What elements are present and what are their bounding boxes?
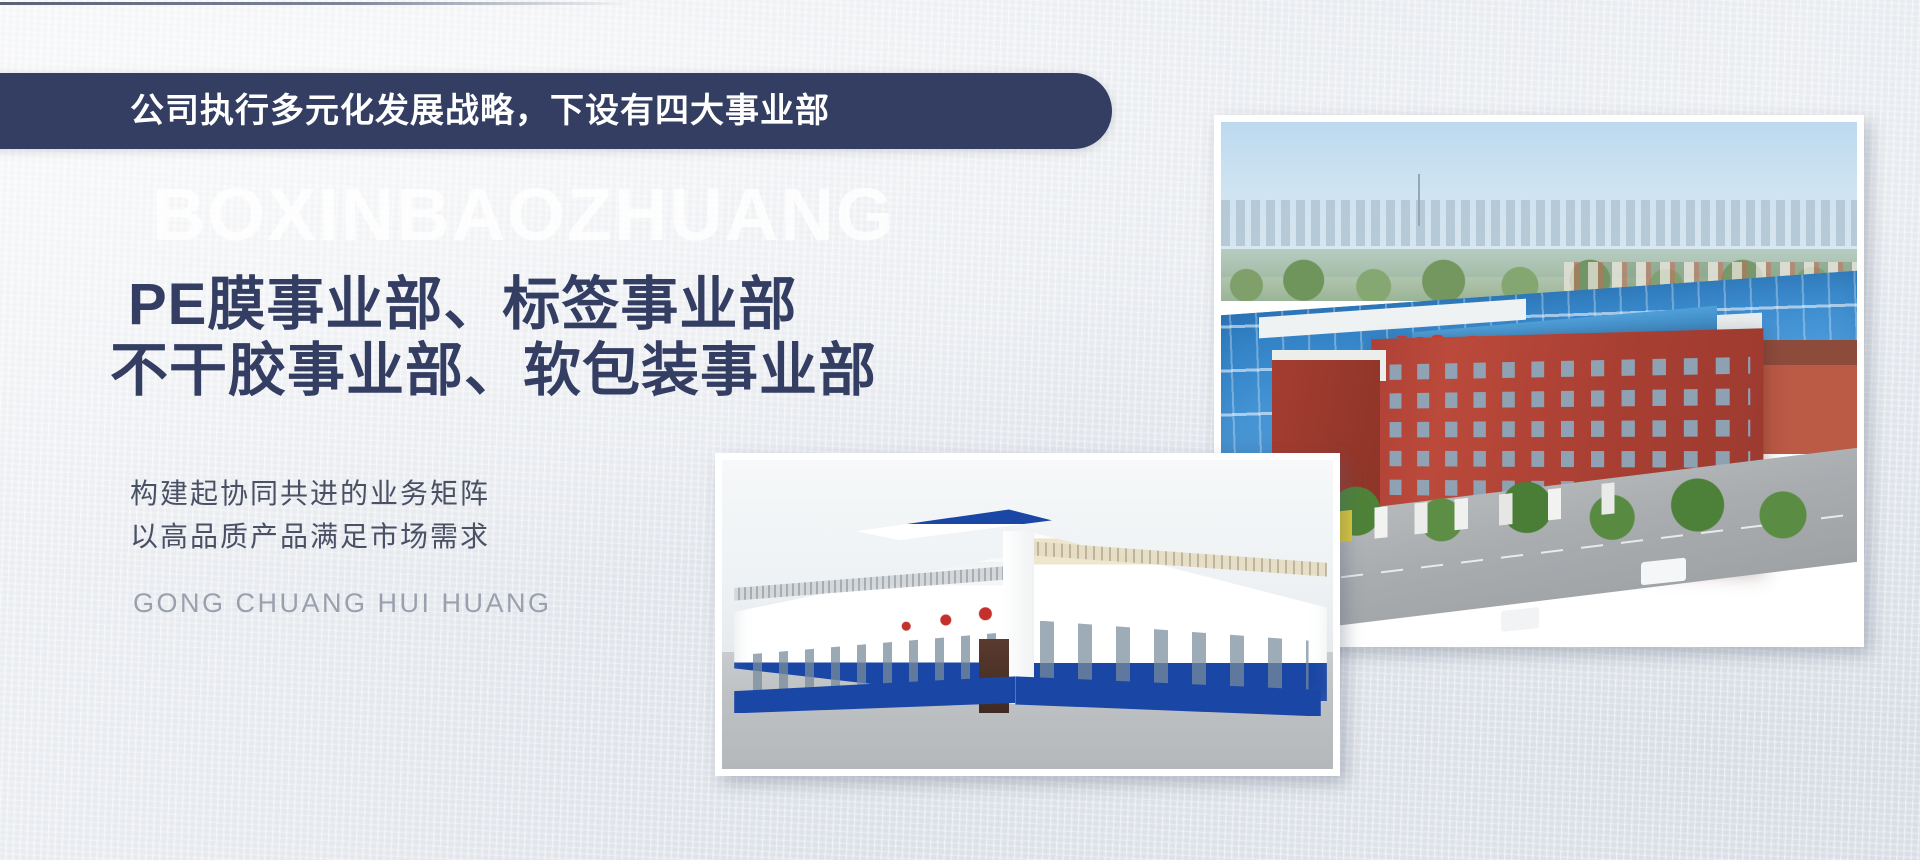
brand-watermark: BOXINBAOZHUANG	[152, 178, 895, 252]
white-van-1	[1641, 557, 1686, 585]
plant-exterior-photo-inner	[722, 460, 1333, 769]
headline-banner: 公司执行多元化发展战略，下设有四大事业部	[0, 73, 1112, 149]
headline-line-2: 不干胶事业部、软包装事业部	[110, 338, 877, 404]
radio-tower	[1418, 174, 1420, 226]
plant-wall-red-characters	[893, 602, 1003, 633]
hero-banner-page: 公司执行多元化发展战略，下设有四大事业部 BOXINBAOZHUANG PE膜事…	[0, 0, 1920, 860]
white-van-2	[1501, 607, 1539, 632]
pinyin-tagline: GONG CHUANG HUI HUANG	[133, 588, 552, 619]
city-skyline	[1221, 200, 1857, 247]
subtitle-line-2: 以高品质产品满足市场需求	[130, 515, 490, 558]
page-title: PE膜事业部、标签事业部 不干胶事业部、软包装事业部	[128, 272, 877, 403]
headline-line-1: PE膜事业部、标签事业部	[128, 272, 877, 338]
subtitle-line-1: 构建起协同共进的业务矩阵	[130, 472, 490, 515]
subtitle-block: 构建起协同共进的业务矩阵 以高品质产品满足市场需求	[130, 472, 490, 559]
banner-title: 公司执行多元化发展战略，下设有四大事业部	[130, 94, 830, 128]
plant-exterior-photo	[715, 453, 1340, 776]
